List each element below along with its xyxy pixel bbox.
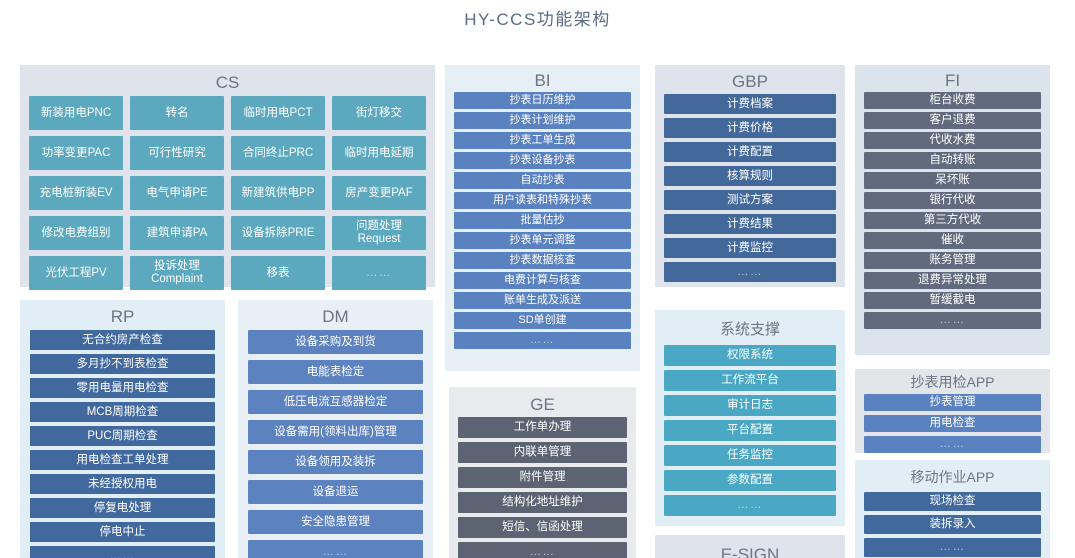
cs-cell[interactable]: 充电桩新装EV [29, 176, 123, 210]
panel-gbp-title: GBP [655, 65, 845, 94]
panel-meter-inspection-app-cell-list: 抄表管理 用电检查 …… [855, 394, 1050, 461]
panel-mobile-work-app-cell-list: 现场检查 装拆录入 …… [855, 492, 1050, 558]
sys-cell[interactable]: 参数配置 [664, 470, 836, 491]
fi-cell[interactable]: 银行代收 [864, 192, 1041, 209]
app-mobile-cell[interactable]: 现场检查 [864, 492, 1041, 511]
gbp-cell[interactable]: 计费价格 [664, 118, 836, 138]
cs-cell-more[interactable]: …… [332, 256, 426, 290]
app-meter-cell[interactable]: 用电检查 [864, 415, 1041, 432]
panel-system-support-title: 系统支撑 [655, 310, 845, 345]
fi-cell[interactable]: 催收 [864, 232, 1041, 249]
bi-cell[interactable]: 抄表日历维护 [454, 92, 631, 109]
ge-cell-more[interactable]: …… [458, 542, 627, 558]
panel-mobile-work-app: 移动作业APP 现场检查 装拆录入 …… [855, 460, 1050, 558]
sys-cell[interactable]: 平台配置 [664, 420, 836, 441]
cs-cell[interactable]: 新装用电PNC [29, 96, 123, 130]
cs-cell[interactable]: 新建筑供电PP [231, 176, 325, 210]
cs-cell[interactable]: 修改电费组别 [29, 216, 123, 250]
ge-cell[interactable]: 附件管理 [458, 467, 627, 488]
panel-bi: BI 抄表日历维护 抄表计划维护 抄表工单生成 抄表设备抄表 自动抄表 用户读表… [445, 65, 640, 371]
sys-cell[interactable]: 工作流平台 [664, 370, 836, 391]
gbp-cell[interactable]: 计费结果 [664, 214, 836, 234]
ge-cell[interactable]: 内联单管理 [458, 442, 627, 463]
bi-cell[interactable]: 抄表数据核查 [454, 252, 631, 269]
panel-fi-title: FI [855, 65, 1050, 92]
rp-cell[interactable]: 零用电量用电检查 [30, 378, 215, 398]
panel-gbp-cell-list: 计费档案 计费价格 计费配置 核算规则 测试方案 计费结果 计费监控 …… [655, 94, 845, 291]
fi-cell[interactable]: 柜台收费 [864, 92, 1041, 109]
bi-cell[interactable]: 电费计算与核查 [454, 272, 631, 289]
ge-cell[interactable]: 短信、信函处理 [458, 517, 627, 538]
bi-cell[interactable]: 抄表设备抄表 [454, 152, 631, 169]
bi-cell[interactable]: 抄表单元调整 [454, 232, 631, 249]
fi-cell[interactable]: 暂缓截电 [864, 292, 1041, 309]
rp-cell[interactable]: PUC周期检查 [30, 426, 215, 446]
cs-cell[interactable]: 问题处理 Request [332, 216, 426, 250]
panel-cs-cell-grid: 新装用电PNC 转名 临时用电PCT 街灯移交 功率变更PAC 可行性研究 合同… [20, 96, 435, 299]
rp-cell[interactable]: 用电检查工单处理 [30, 450, 215, 470]
cs-cell[interactable]: 投诉处理 Complaint [130, 256, 224, 290]
ge-cell[interactable]: 结构化地址维护 [458, 492, 627, 513]
app-meter-cell[interactable]: 抄表管理 [864, 394, 1041, 411]
panel-bi-title: BI [445, 65, 640, 92]
cs-cell[interactable]: 功率变更PAC [29, 136, 123, 170]
panel-esign-title: E-SIGN [721, 546, 780, 558]
panel-dm-title: DM [238, 300, 433, 330]
rp-cell[interactable]: 未经授权用电 [30, 474, 215, 494]
fi-cell[interactable]: 账务管理 [864, 252, 1041, 269]
sys-cell[interactable]: 权限系统 [664, 345, 836, 366]
app-mobile-cell[interactable]: 装拆录入 [864, 515, 1041, 534]
dm-cell[interactable]: 设备采购及到货 [248, 330, 423, 354]
bi-cell[interactable]: 抄表工单生成 [454, 132, 631, 149]
fi-cell-more[interactable]: …… [864, 312, 1041, 329]
panel-fi: FI 柜台收费 客户退费 代收水费 自动转账 呆坏账 银行代收 第三方代收 催收… [855, 65, 1050, 355]
rp-cell[interactable]: 无合约房产检查 [30, 330, 215, 350]
dm-cell[interactable]: 设备领用及装拆 [248, 450, 423, 474]
cs-cell[interactable]: 临时用电PCT [231, 96, 325, 130]
panel-dm: DM 设备采购及到货 电能表检定 低压电流互感器检定 设备需用(领料出库)管理 … [238, 300, 433, 558]
panel-mobile-work-app-title: 移动作业APP [855, 460, 1050, 492]
panel-rp-cell-list: 无合约房产检查 多月抄不到表检查 零用电量用电检查 MCB周期检查 PUC周期检… [20, 330, 225, 558]
panel-system-support: 系统支撑 权限系统 工作流平台 审计日志 平台配置 任务监控 参数配置 …… [655, 310, 845, 526]
gbp-cell[interactable]: 计费监控 [664, 238, 836, 258]
bi-cell[interactable]: 抄表计划维护 [454, 112, 631, 129]
cs-cell[interactable]: 房产变更PAF [332, 176, 426, 210]
panel-cs-title: CS [20, 65, 435, 96]
bi-cell[interactable]: SD单创建 [454, 312, 631, 329]
cs-cell[interactable]: 电气申请PE [130, 176, 224, 210]
cs-cell[interactable]: 移表 [231, 256, 325, 290]
app-mobile-cell-more[interactable]: …… [864, 538, 1041, 557]
panel-dm-cell-list: 设备采购及到货 电能表检定 低压电流互感器检定 设备需用(领料出库)管理 设备领… [238, 330, 433, 558]
page-title: HY-CCS功能架构 [0, 0, 1075, 32]
sys-cell[interactable]: 任务监控 [664, 445, 836, 466]
gbp-cell[interactable]: 计费档案 [664, 94, 836, 114]
rp-cell[interactable]: 多月抄不到表检查 [30, 354, 215, 374]
rp-cell-more[interactable]: …… [30, 546, 215, 558]
rp-cell[interactable]: 停复电处理 [30, 498, 215, 518]
panel-fi-cell-list: 柜台收费 客户退费 代收水费 自动转账 呆坏账 银行代收 第三方代收 催收 账务… [855, 92, 1050, 337]
panel-meter-inspection-app: 抄表用检APP 抄表管理 用电检查 …… [855, 369, 1050, 453]
fi-cell[interactable]: 呆坏账 [864, 172, 1041, 189]
gbp-cell[interactable]: 计费配置 [664, 142, 836, 162]
gbp-cell[interactable]: 核算规则 [664, 166, 836, 186]
bi-cell[interactable]: 自动抄表 [454, 172, 631, 189]
cs-cell[interactable]: 光伏工程PV [29, 256, 123, 290]
bi-cell[interactable]: 批量估抄 [454, 212, 631, 229]
dm-cell[interactable]: 电能表检定 [248, 360, 423, 384]
fi-cell[interactable]: 自动转账 [864, 152, 1041, 169]
sys-cell[interactable]: 审计日志 [664, 395, 836, 416]
bi-cell[interactable]: 账单生成及派送 [454, 292, 631, 309]
panel-bi-cell-list: 抄表日历维护 抄表计划维护 抄表工单生成 抄表设备抄表 自动抄表 用户读表和特殊… [445, 92, 640, 357]
fi-cell[interactable]: 客户退费 [864, 112, 1041, 129]
cs-cell[interactable]: 可行性研究 [130, 136, 224, 170]
dm-cell[interactable]: 安全隐患管理 [248, 510, 423, 534]
gbp-cell-more[interactable]: …… [664, 262, 836, 282]
panel-system-support-cell-list: 权限系统 工作流平台 审计日志 平台配置 任务监控 参数配置 …… [655, 345, 845, 525]
dm-cell[interactable]: 设备需用(领料出库)管理 [248, 420, 423, 444]
dm-cell[interactable]: 设备退运 [248, 480, 423, 504]
cs-cell[interactable]: 设备拆除PRIE [231, 216, 325, 250]
gbp-cell[interactable]: 测试方案 [664, 190, 836, 210]
cs-cell[interactable]: 转名 [130, 96, 224, 130]
app-meter-cell-more[interactable]: …… [864, 436, 1041, 453]
architecture-board: CS 新装用电PNC 转名 临时用电PCT 街灯移交 功率变更PAC 可行性研究… [0, 32, 1075, 558]
bi-cell-more[interactable]: …… [454, 332, 631, 349]
dm-cell[interactable]: 低压电流互感器检定 [248, 390, 423, 414]
panel-ge: GE 工作单办理 内联单管理 附件管理 结构化地址维护 短信、信函处理 …… [449, 387, 636, 558]
fi-cell[interactable]: 第三方代收 [864, 212, 1041, 229]
fi-cell[interactable]: 代收水费 [864, 132, 1041, 149]
ge-cell[interactable]: 工作单办理 [458, 417, 627, 438]
panel-cs: CS 新装用电PNC 转名 临时用电PCT 街灯移交 功率变更PAC 可行性研究… [20, 65, 435, 287]
panel-meter-inspection-app-title: 抄表用检APP [855, 369, 1050, 394]
fi-cell[interactable]: 退费异常处理 [864, 272, 1041, 289]
cs-cell[interactable]: 街灯移交 [332, 96, 426, 130]
panel-ge-title: GE [449, 387, 636, 417]
bi-cell[interactable]: 用户读表和特殊抄表 [454, 192, 631, 209]
panel-gbp: GBP 计费档案 计费价格 计费配置 核算规则 测试方案 计费结果 计费监控 …… [655, 65, 845, 287]
rp-cell[interactable]: 停电中止 [30, 522, 215, 542]
cs-cell[interactable]: 临时用电延期 [332, 136, 426, 170]
sys-cell-more[interactable]: …… [664, 495, 836, 516]
panel-rp: RP 无合约房产检查 多月抄不到表检查 零用电量用电检查 MCB周期检查 PUC… [20, 300, 225, 558]
dm-cell-more[interactable]: …… [248, 540, 423, 558]
rp-cell[interactable]: MCB周期检查 [30, 402, 215, 422]
panel-rp-title: RP [20, 300, 225, 330]
panel-esign[interactable]: E-SIGN [655, 535, 845, 558]
cs-cell[interactable]: 合同终止PRC [231, 136, 325, 170]
panel-ge-cell-list: 工作单办理 内联单管理 附件管理 结构化地址维护 短信、信函处理 …… [449, 417, 636, 558]
cs-cell[interactable]: 建筑申请PA [130, 216, 224, 250]
